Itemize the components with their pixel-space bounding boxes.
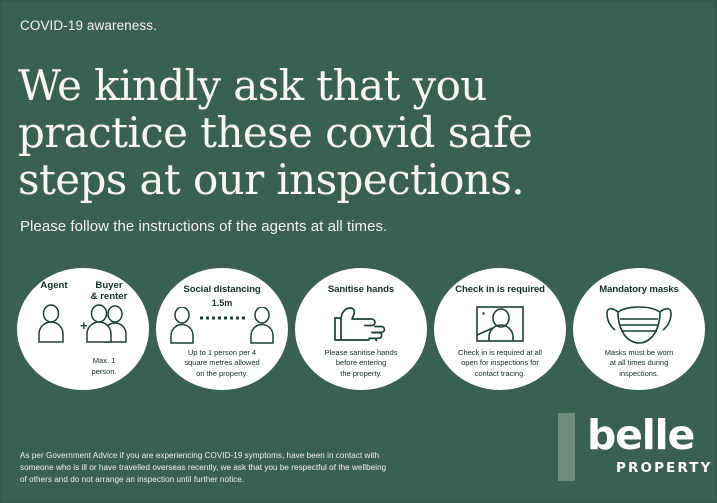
page-title: We kindly ask that you practice these co… [18,62,658,203]
face-mask-icon [573,302,705,346]
headline-line-1: We kindly ask that you [18,62,658,109]
step-social-distancing-caption: Up to 1 person per 4 square metres allow… [166,348,278,379]
belle-property-logo: belle PROPERTY [558,410,700,482]
step-sanitise-hands: Sanitise hands Please sanitise hands bef… [295,268,427,390]
step-attendance-caption: Max. 1 person. [69,356,139,377]
government-advice-disclaimer: As per Government Advice if you are expe… [20,450,392,487]
step-mandatory-masks: Mandatory masks Masks must be worn at al… [573,268,705,390]
id-card-icon [434,302,566,346]
step-attendance-title-agent: Agent [29,280,79,291]
logo-subtitle: PROPERTY [616,460,712,476]
step-check-in-title: Check in is required [434,284,566,295]
step-attendance-title-buyer: Buyer & renter [79,280,139,302]
plus-sign: + [80,318,88,333]
step-social-distancing-title: Social distancing [156,284,288,295]
step-check-in-caption: Check in is required at all open for ins… [440,348,560,379]
step-check-in: Check in is required Check in is require… [434,268,566,390]
steps-row: Agent Buyer & renter + Max. 1 person. [15,268,705,390]
step-mandatory-masks-caption: Masks must be worn at all times during i… [583,348,695,379]
hand-sanitise-icon [295,302,427,346]
headline-line-3: steps at our inspections. [18,156,658,203]
covid-awareness-poster: COVID-19 awareness. We kindly ask that y… [0,0,717,503]
headline-line-2: practice these covid safe [18,109,658,156]
step-sanitise-hands-title: Sanitise hands [295,284,427,295]
logo-bar [558,413,575,481]
step-social-distancing: Social distancing 1.5m Up to 1 person pe… [156,268,288,390]
subheading: Please follow the instructions of the ag… [20,218,387,235]
step-attendance: Agent Buyer & renter + Max. 1 person. [17,268,149,390]
logo-wordmark: belle [587,412,694,458]
eyebrow-label: COVID-19 awareness. [20,18,157,33]
step-mandatory-masks-title: Mandatory masks [573,284,705,295]
step-sanitise-hands-caption: Please sanitise hands before entering th… [305,348,417,379]
social-distance-icon [156,306,288,346]
